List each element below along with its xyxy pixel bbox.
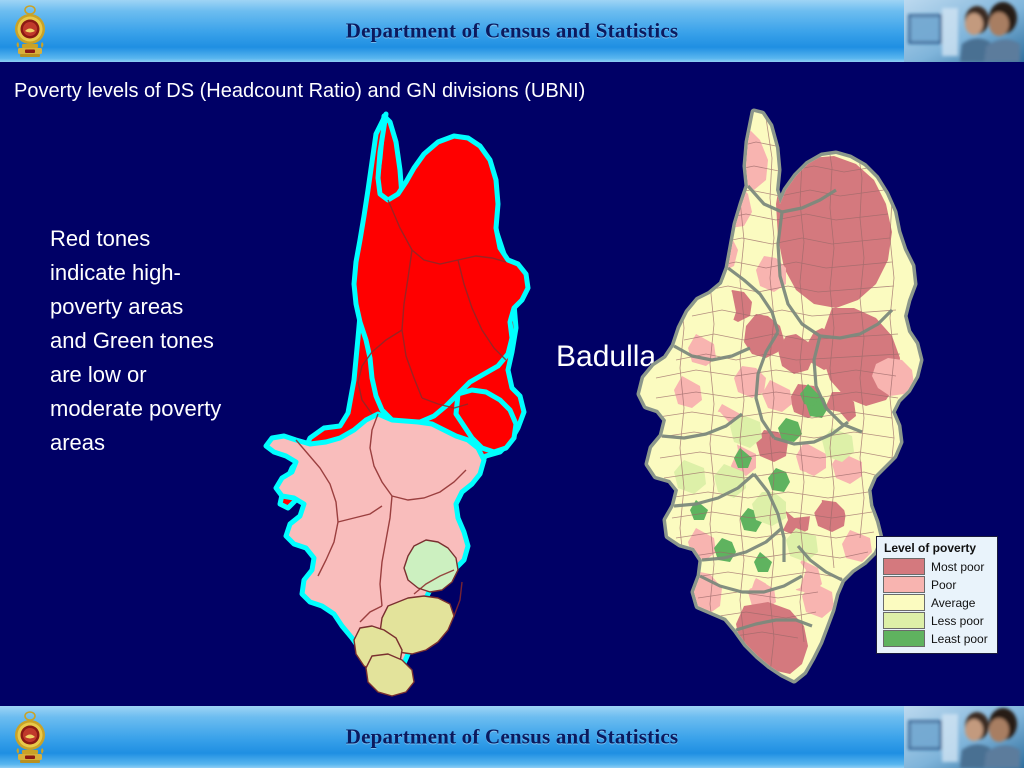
legend-swatch-most-poor	[883, 558, 925, 575]
header-title: Department of Census and Statistics	[0, 19, 1024, 44]
legend-swatch-poor	[883, 576, 925, 593]
explanatory-note: Red tones indicate high-poverty areas an…	[50, 222, 225, 460]
header-banner: Department of Census and Statistics	[0, 0, 1024, 62]
legend-swatch-least-poor	[883, 630, 925, 647]
slide-canvas: Department of Census and Statistics	[0, 0, 1024, 768]
legend-label-average: Average	[931, 596, 975, 610]
legend-label-poor: Poor	[931, 578, 956, 592]
office-workers-photo	[904, 0, 1024, 62]
legend-label-less-poor: Less poor	[931, 614, 984, 628]
legend-item-least-poor: Least poor	[883, 630, 992, 647]
footer-title: Department of Census and Statistics	[0, 725, 1024, 750]
legend-label-most-poor: Most poor	[931, 560, 984, 574]
legend-swatch-average	[883, 594, 925, 611]
footer-banner: Department of Census and Statistics	[0, 706, 1024, 768]
legend-item-most-poor: Most poor	[883, 558, 992, 575]
legend-item-average: Average	[883, 594, 992, 611]
slide-title: Poverty levels of DS (Headcount Ratio) a…	[14, 80, 585, 103]
map-legend: Level of poverty Most poor Poor Average …	[876, 536, 998, 654]
office-workers-photo-footer	[904, 706, 1024, 768]
legend-title: Level of poverty	[884, 541, 992, 555]
badulla-ds-divisions-map	[262, 108, 562, 698]
legend-swatch-less-poor	[883, 612, 925, 629]
legend-item-poor: Poor	[883, 576, 992, 593]
legend-label-least-poor: Least poor	[931, 632, 988, 646]
legend-item-less-poor: Less poor	[883, 612, 992, 629]
